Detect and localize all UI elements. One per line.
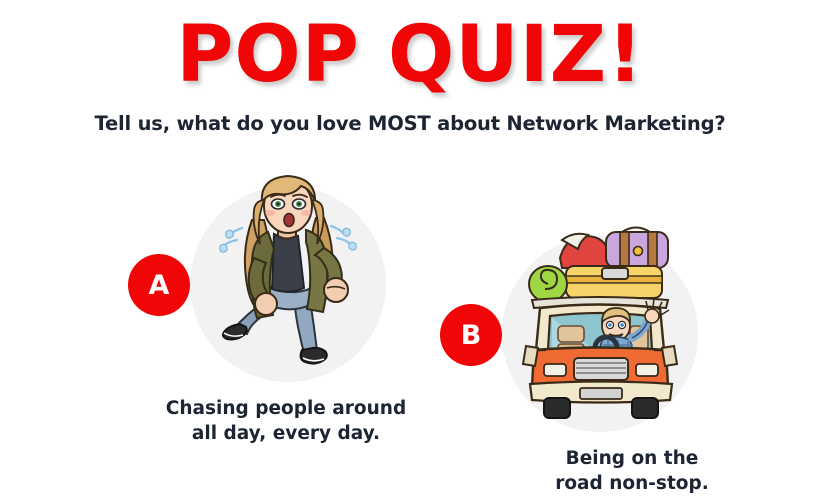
quiz-header: POP QUIZ! Tell us, what do you love MOST… (0, 0, 820, 135)
option-b[interactable]: B (430, 236, 782, 496)
option-a-caption: Chasing people around all day, every day… (136, 397, 436, 446)
camper-van-icon (502, 222, 698, 437)
quiz-subtitle: Tell us, what do you love MOST about Net… (0, 96, 820, 135)
page-title: POP QUIZ! (0, 0, 820, 96)
running-woman-icon (190, 172, 386, 387)
option-a[interactable]: A (118, 186, 436, 446)
option-a-stage: A (118, 186, 378, 391)
option-b-caption: Being on the road non-stop. (482, 447, 782, 496)
option-b-badge[interactable]: B (440, 304, 502, 366)
option-a-badge[interactable]: A (128, 254, 190, 316)
option-b-stage: B (430, 236, 690, 441)
